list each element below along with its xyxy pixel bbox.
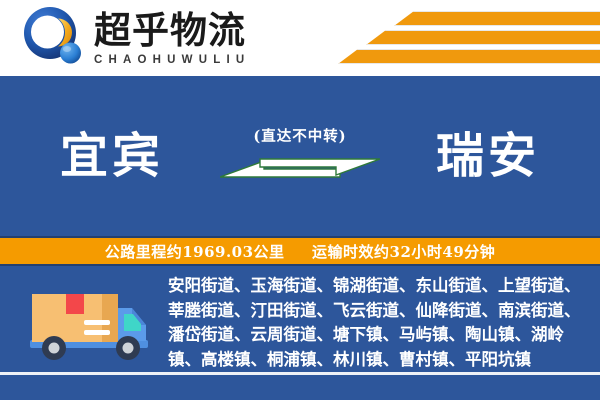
info-bar-content: 公路里程约1969.03公里 运输时效约32小时49分钟 [105, 241, 496, 262]
route-arrow-group: (直达不中转) 【往返运输】 [215, 127, 385, 185]
brand-name-en: CHAOHUWULIU [94, 52, 250, 68]
direct-service-note: (直达不中转) [215, 127, 385, 147]
brand-text: 超乎物流 CHAOHUWULIU [94, 9, 250, 68]
logistics-route-banner: 超乎物流 CHAOHUWULIU 宜宾 (直达不中转) 【往返运输】 [0, 0, 600, 400]
circle-crescent-logo-icon [22, 6, 88, 70]
coverage-districts-text: 安阳街道、玉海街道、锦湖街道、东山街道、上望街道、莘塍街道、汀田街道、飞云街道、… [168, 274, 596, 372]
origin-city: 宜宾 [60, 127, 164, 185]
stripe-2 [366, 30, 600, 45]
stripe-1 [394, 11, 600, 26]
brand-logo: 超乎物流 CHAOHUWULIU [22, 6, 250, 70]
brand-name-cn: 超乎物流 [94, 9, 250, 51]
delivery-truck-icon [22, 284, 157, 366]
stripe-3 [338, 49, 600, 64]
decorative-stripes [310, 8, 600, 68]
route-info-bar: 公路里程约1969.03公里 运输时效约32小时49分钟 [0, 236, 600, 266]
route-section: 宜宾 (直达不中转) 【往返运输】 瑞安 [0, 76, 600, 236]
coverage-section: 安阳街道、玉海街道、锦湖街道、东山街道、上望街道、莘塍街道、汀田街道、飞云街道、… [0, 266, 600, 400]
destination-city: 瑞安 [436, 127, 540, 185]
bidirectional-arrow-icon [215, 151, 385, 185]
distance-text: 公路里程约1969.03公里 [105, 243, 285, 261]
banner-header: 超乎物流 CHAOHUWULIU [0, 0, 600, 76]
road-line [0, 372, 600, 375]
duration-text: 运输时效约32小时49分钟 [312, 243, 495, 261]
